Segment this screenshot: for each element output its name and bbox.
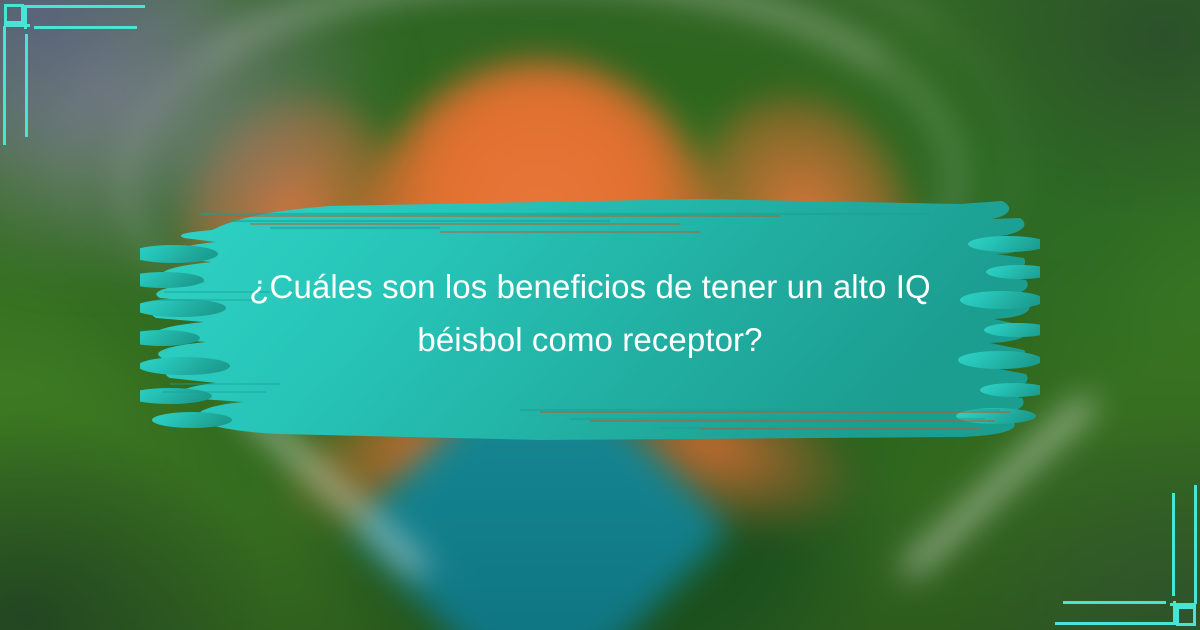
corner-line-vertical-outer [1194, 485, 1197, 604]
corner-line-vertical-outer [3, 26, 6, 145]
social-card: ¿Cuáles son los beneficios de tener un a… [0, 0, 1200, 630]
corner-line-horizontal-outer [26, 5, 145, 8]
corner-line-vertical-inner [25, 34, 28, 137]
corner-line-horizontal-inner [1063, 601, 1166, 604]
corner-square-icon [1176, 606, 1196, 626]
corner-line-horizontal-outer [1055, 622, 1174, 625]
headline-line-1: ¿Cuáles son los beneficios de tener un a… [200, 260, 980, 313]
corner-square-icon [4, 4, 24, 24]
corner-line-vertical-inner [1172, 493, 1175, 596]
corner-elbow-vertical [1173, 601, 1176, 625]
headline-text: ¿Cuáles son los beneficios de tener un a… [200, 260, 980, 366]
corner-elbow-vertical [24, 5, 27, 29]
corner-line-horizontal-inner [34, 26, 137, 29]
headline-banner: ¿Cuáles son los beneficios de tener un a… [140, 188, 1040, 446]
headline-line-2: béisbol como receptor? [200, 313, 980, 366]
